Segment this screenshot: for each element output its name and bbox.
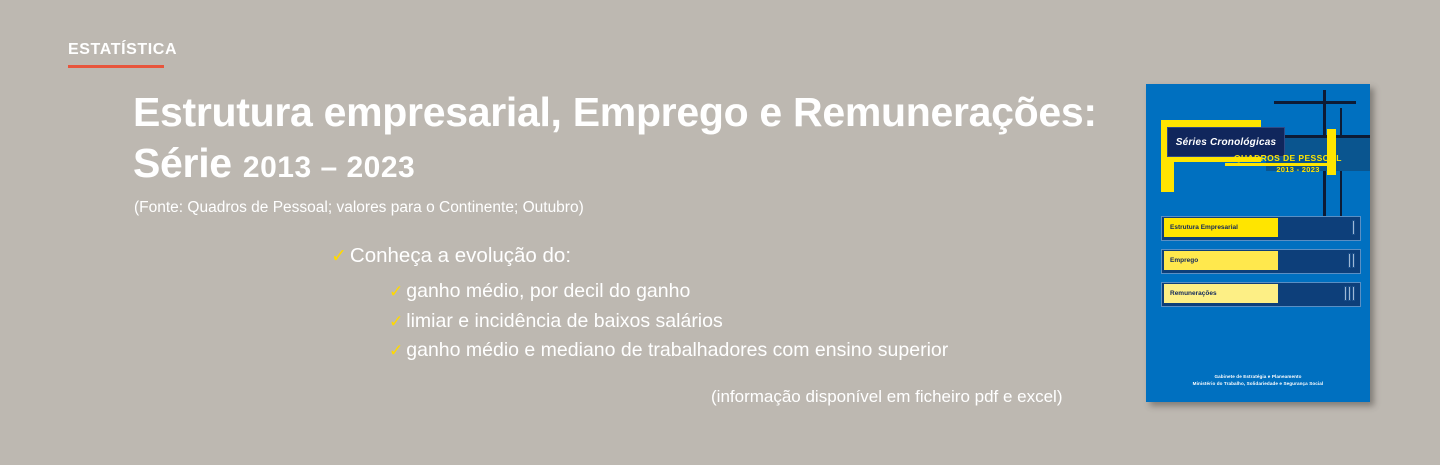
cover-chapter-row: Emprego xyxy=(1161,249,1361,274)
lead-bullet: ✓ Conheça a evolução do: xyxy=(331,243,571,269)
book-spine-icon xyxy=(1348,286,1351,301)
cover-footer-line-2: Ministério do Trabalho, Solidariedade e … xyxy=(1146,381,1370,388)
cover-chapter-tag: Estrutura Empresarial xyxy=(1164,218,1278,237)
check-icon: ✓ xyxy=(389,342,403,359)
title-year-range: 2013 – 2023 xyxy=(243,151,415,184)
cover-subject-years: 2013 - 2023 xyxy=(1246,165,1350,174)
title-line-1: Estrutura empresarial, Emprego e Remuner… xyxy=(133,86,1133,138)
cover-chapter-row: Estrutura Empresarial xyxy=(1161,216,1361,241)
check-icon: ✓ xyxy=(389,283,403,300)
list-item: ✓ ganho médio e mediano de trabalhadores… xyxy=(389,339,948,362)
list-item: ✓ limiar e incidência de baixos salários xyxy=(389,310,948,333)
title-series-word: Série xyxy=(133,140,232,186)
sub-bullet-list: ✓ ganho médio, por decil do ganho ✓ limi… xyxy=(389,280,948,369)
list-item-label: ganho médio, por decil do ganho xyxy=(406,280,690,303)
list-item-label: limiar e incidência de baixos salários xyxy=(406,310,723,333)
book-spine-icon xyxy=(1344,286,1347,301)
check-icon: ✓ xyxy=(389,313,403,330)
cover-chapter-rows: Estrutura Empresarial Emprego xyxy=(1161,216,1361,315)
book-spine-icon xyxy=(1348,253,1351,268)
title-line-2: Série 2013 – 2023 xyxy=(133,138,1133,193)
kicker-text: ESTATÍSTICA xyxy=(68,41,177,59)
cover-subject-title: QUADROS DE PESSOAL xyxy=(1234,153,1338,163)
book-spine-icon xyxy=(1352,286,1355,301)
page-title: Estrutura empresarial, Emprego e Remuner… xyxy=(133,86,1133,193)
list-item-label: ganho médio e mediano de trabalhadores c… xyxy=(406,339,948,362)
cover-artwork: Séries Cronológicas QUADROS DE PESSOAL 2… xyxy=(1146,84,1370,402)
source-note: (Fonte: Quadros de Pessoal; valores para… xyxy=(134,198,584,218)
kicker-label: ESTATÍSTICA xyxy=(68,41,177,68)
check-icon: ✓ xyxy=(331,247,347,266)
cover-footer: Gabinete de Estratégia e Planeamento Min… xyxy=(1146,374,1370,387)
cover-chapter-label: Remunerações xyxy=(1170,290,1217,297)
cover-chapter-spine-group xyxy=(1348,253,1355,268)
cover-chapter-row: Remunerações xyxy=(1161,282,1361,307)
availability-note: (informação disponível em ficheiro pdf e… xyxy=(711,386,1063,408)
list-item: ✓ ganho médio, por decil do ganho xyxy=(389,280,948,303)
cover-chapter-spine-group xyxy=(1344,286,1355,301)
book-spine-icon xyxy=(1352,220,1355,235)
slide-canvas: ESTATÍSTICA Estrutura empresarial, Empre… xyxy=(0,0,1440,465)
cover-series-badge-label: Séries Cronológicas xyxy=(1176,137,1277,148)
publication-cover-thumbnail[interactable]: Séries Cronológicas QUADROS DE PESSOAL 2… xyxy=(1146,84,1370,402)
lead-bullet-label: Conheça a evolução do: xyxy=(350,243,571,269)
cover-chapter-label: Estrutura Empresarial xyxy=(1170,224,1238,231)
cover-chapter-spine-group xyxy=(1352,220,1355,235)
book-spine-icon xyxy=(1352,253,1355,268)
kicker-underline-rule xyxy=(68,65,164,68)
cover-decor-horizontal-line-top xyxy=(1274,101,1356,104)
cover-chapter-tag: Remunerações xyxy=(1164,284,1278,303)
cover-chapter-tag: Emprego xyxy=(1164,251,1278,270)
cover-chapter-label: Emprego xyxy=(1170,257,1198,264)
